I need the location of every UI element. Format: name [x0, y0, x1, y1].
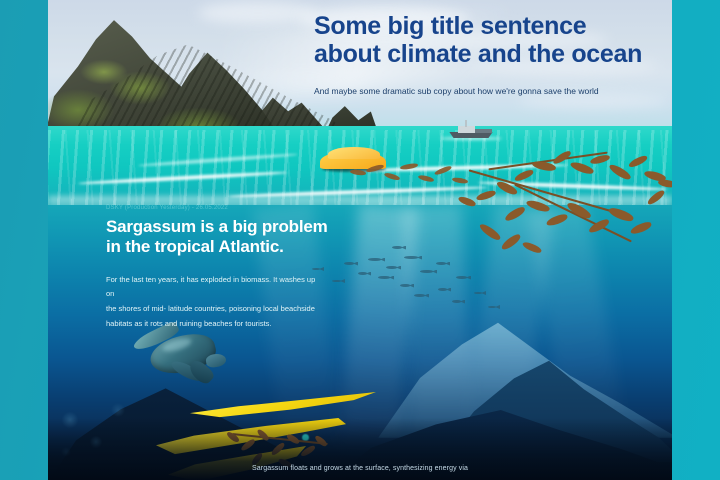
sea-turtle-icon [126, 328, 238, 384]
section-title-line-1: Sargassum is a big problem [106, 217, 376, 237]
hero-copy-block: Some big title sentence about climate an… [314, 12, 644, 98]
hero-title-line-2: about climate and the ocean [314, 40, 644, 68]
boat-mast [465, 120, 467, 127]
section-body: For the last ten years, it has exploded … [106, 273, 321, 332]
boat-deck [475, 129, 492, 133]
hero-subtitle: And maybe some dramatic sub copy about h… [314, 86, 644, 98]
outer-frame: Some big title sentence about climate an… [0, 0, 720, 480]
float-highlight [328, 147, 380, 159]
section-copy-block: DSKY (Production Yesterday) - 26.05.2022… [106, 205, 376, 331]
page-title: Some big title sentence about climate an… [314, 12, 644, 68]
hero-title-line-1: Some big title sentence [314, 12, 644, 40]
section-eyebrow-credit: DSKY (Production Yesterday) - 26.05.2022 [106, 205, 376, 211]
hero-artwork-canvas: Some big title sentence about climate an… [48, 0, 672, 480]
sargassum-seaweed-icon [448, 150, 672, 260]
section-title: Sargassum is a big problem in the tropic… [106, 217, 376, 258]
section-body-line-3: habitats as it rots and ruining beaches … [106, 317, 321, 332]
section-title-line-2: in the tropical Atlantic. [106, 237, 376, 257]
boat-cabin [458, 126, 475, 133]
sargassum-surface-mat-icon [348, 162, 478, 192]
fishing-boat-icon [448, 121, 494, 138]
bottom-caption: Sargassum floats and grows at the surfac… [48, 465, 672, 472]
section-body-line-1: For the last ten years, it has exploded … [106, 273, 321, 302]
turtle-head [205, 353, 227, 369]
section-body-line-2: the shores of mid- latitude countries, p… [106, 302, 321, 317]
